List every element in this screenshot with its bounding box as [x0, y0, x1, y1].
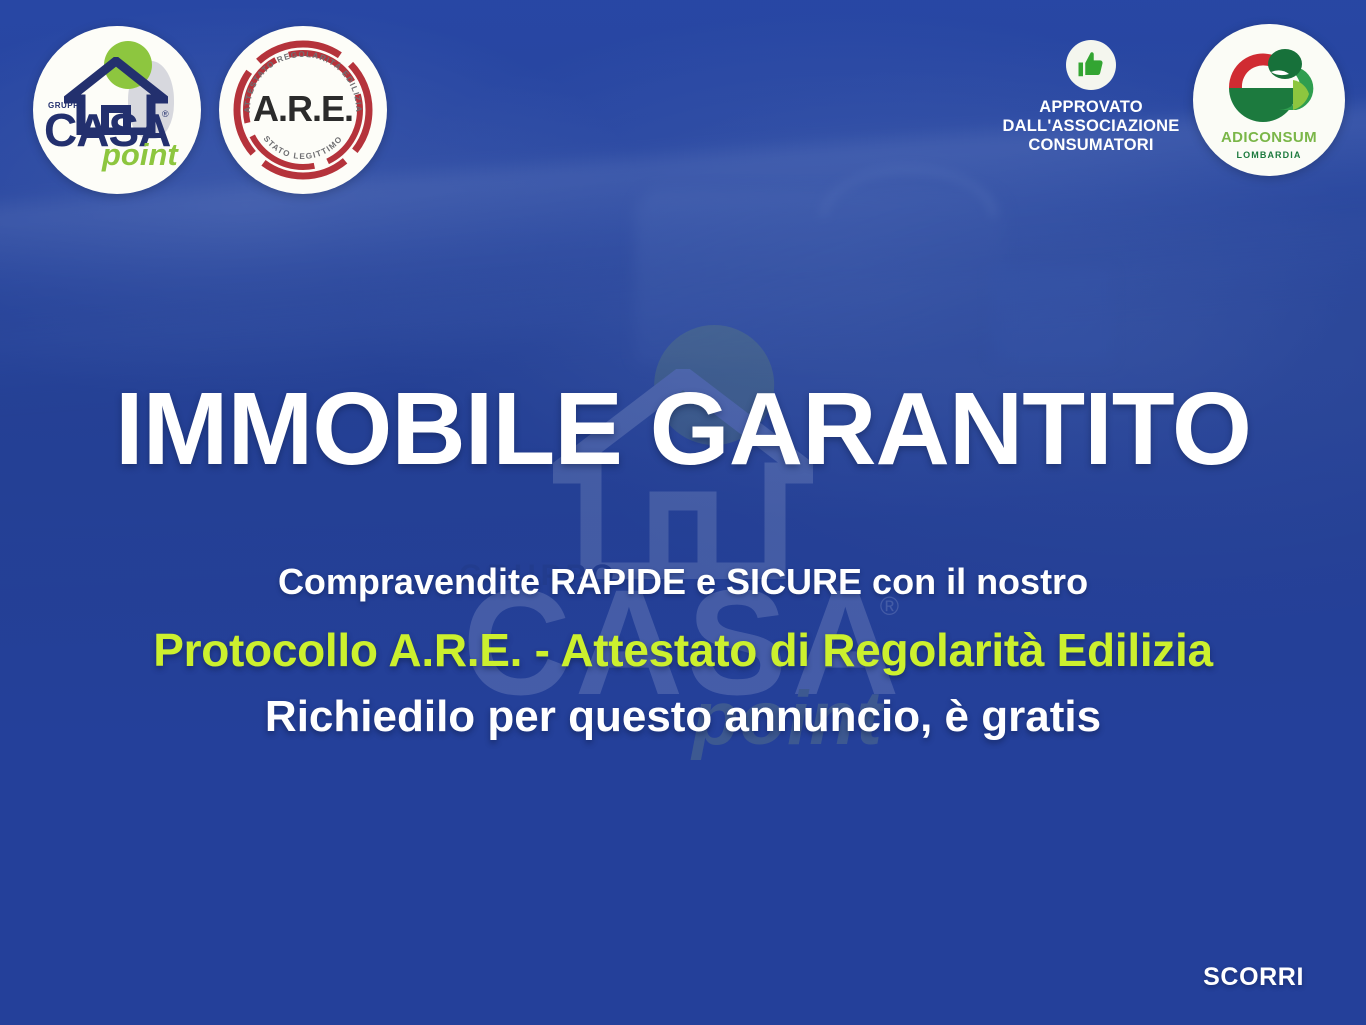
approvato-badge: APPROVATO DALL'ASSOCIAZIONE CONSUMATORI	[1002, 40, 1180, 155]
adiconsum-logo[interactable]: ADICONSUM LOMBARDIA	[1193, 24, 1345, 176]
adiconsum-name-text: ADICONSUM	[1201, 129, 1337, 146]
approvato-line-2: DALL'ASSOCIAZIONE	[1002, 117, 1180, 136]
adiconsum-region-text: LOMBARDIA	[1201, 150, 1337, 160]
are-acronym-text: A.R.E.	[228, 88, 378, 130]
approvato-line-1: APPROVATO	[1002, 98, 1180, 117]
casapoint-registered-mark: ®	[162, 109, 169, 119]
subtitle-line-3: Richiedilo per questo annuncio, è gratis	[0, 692, 1366, 742]
casapoint-logo[interactable]: GRUPPO CASA ® point	[33, 26, 201, 194]
are-logo[interactable]: ATTESTATO REGOLARITÀ EDILIZIA STATO LEGI…	[219, 26, 387, 194]
adiconsum-emblem-icon	[1201, 32, 1337, 142]
casapoint-point-text: point	[102, 139, 178, 170]
subtitle-line-2-highlight: Protocollo A.R.E. - Attestato di Regolar…	[0, 623, 1366, 677]
promo-slide: GRUPPO CASA ® point GRUPPO CASA ® point	[0, 0, 1366, 1025]
thumbs-up-icon	[1066, 40, 1116, 90]
approvato-line-3: CONSUMATORI	[1002, 136, 1180, 155]
page-title: IMMOBILE GARANTITO	[0, 377, 1366, 480]
subtitle-line-1: Compravendite RAPIDE e SICURE con il nos…	[0, 561, 1366, 603]
scroll-hint-button[interactable]: SCORRI	[1203, 963, 1304, 992]
